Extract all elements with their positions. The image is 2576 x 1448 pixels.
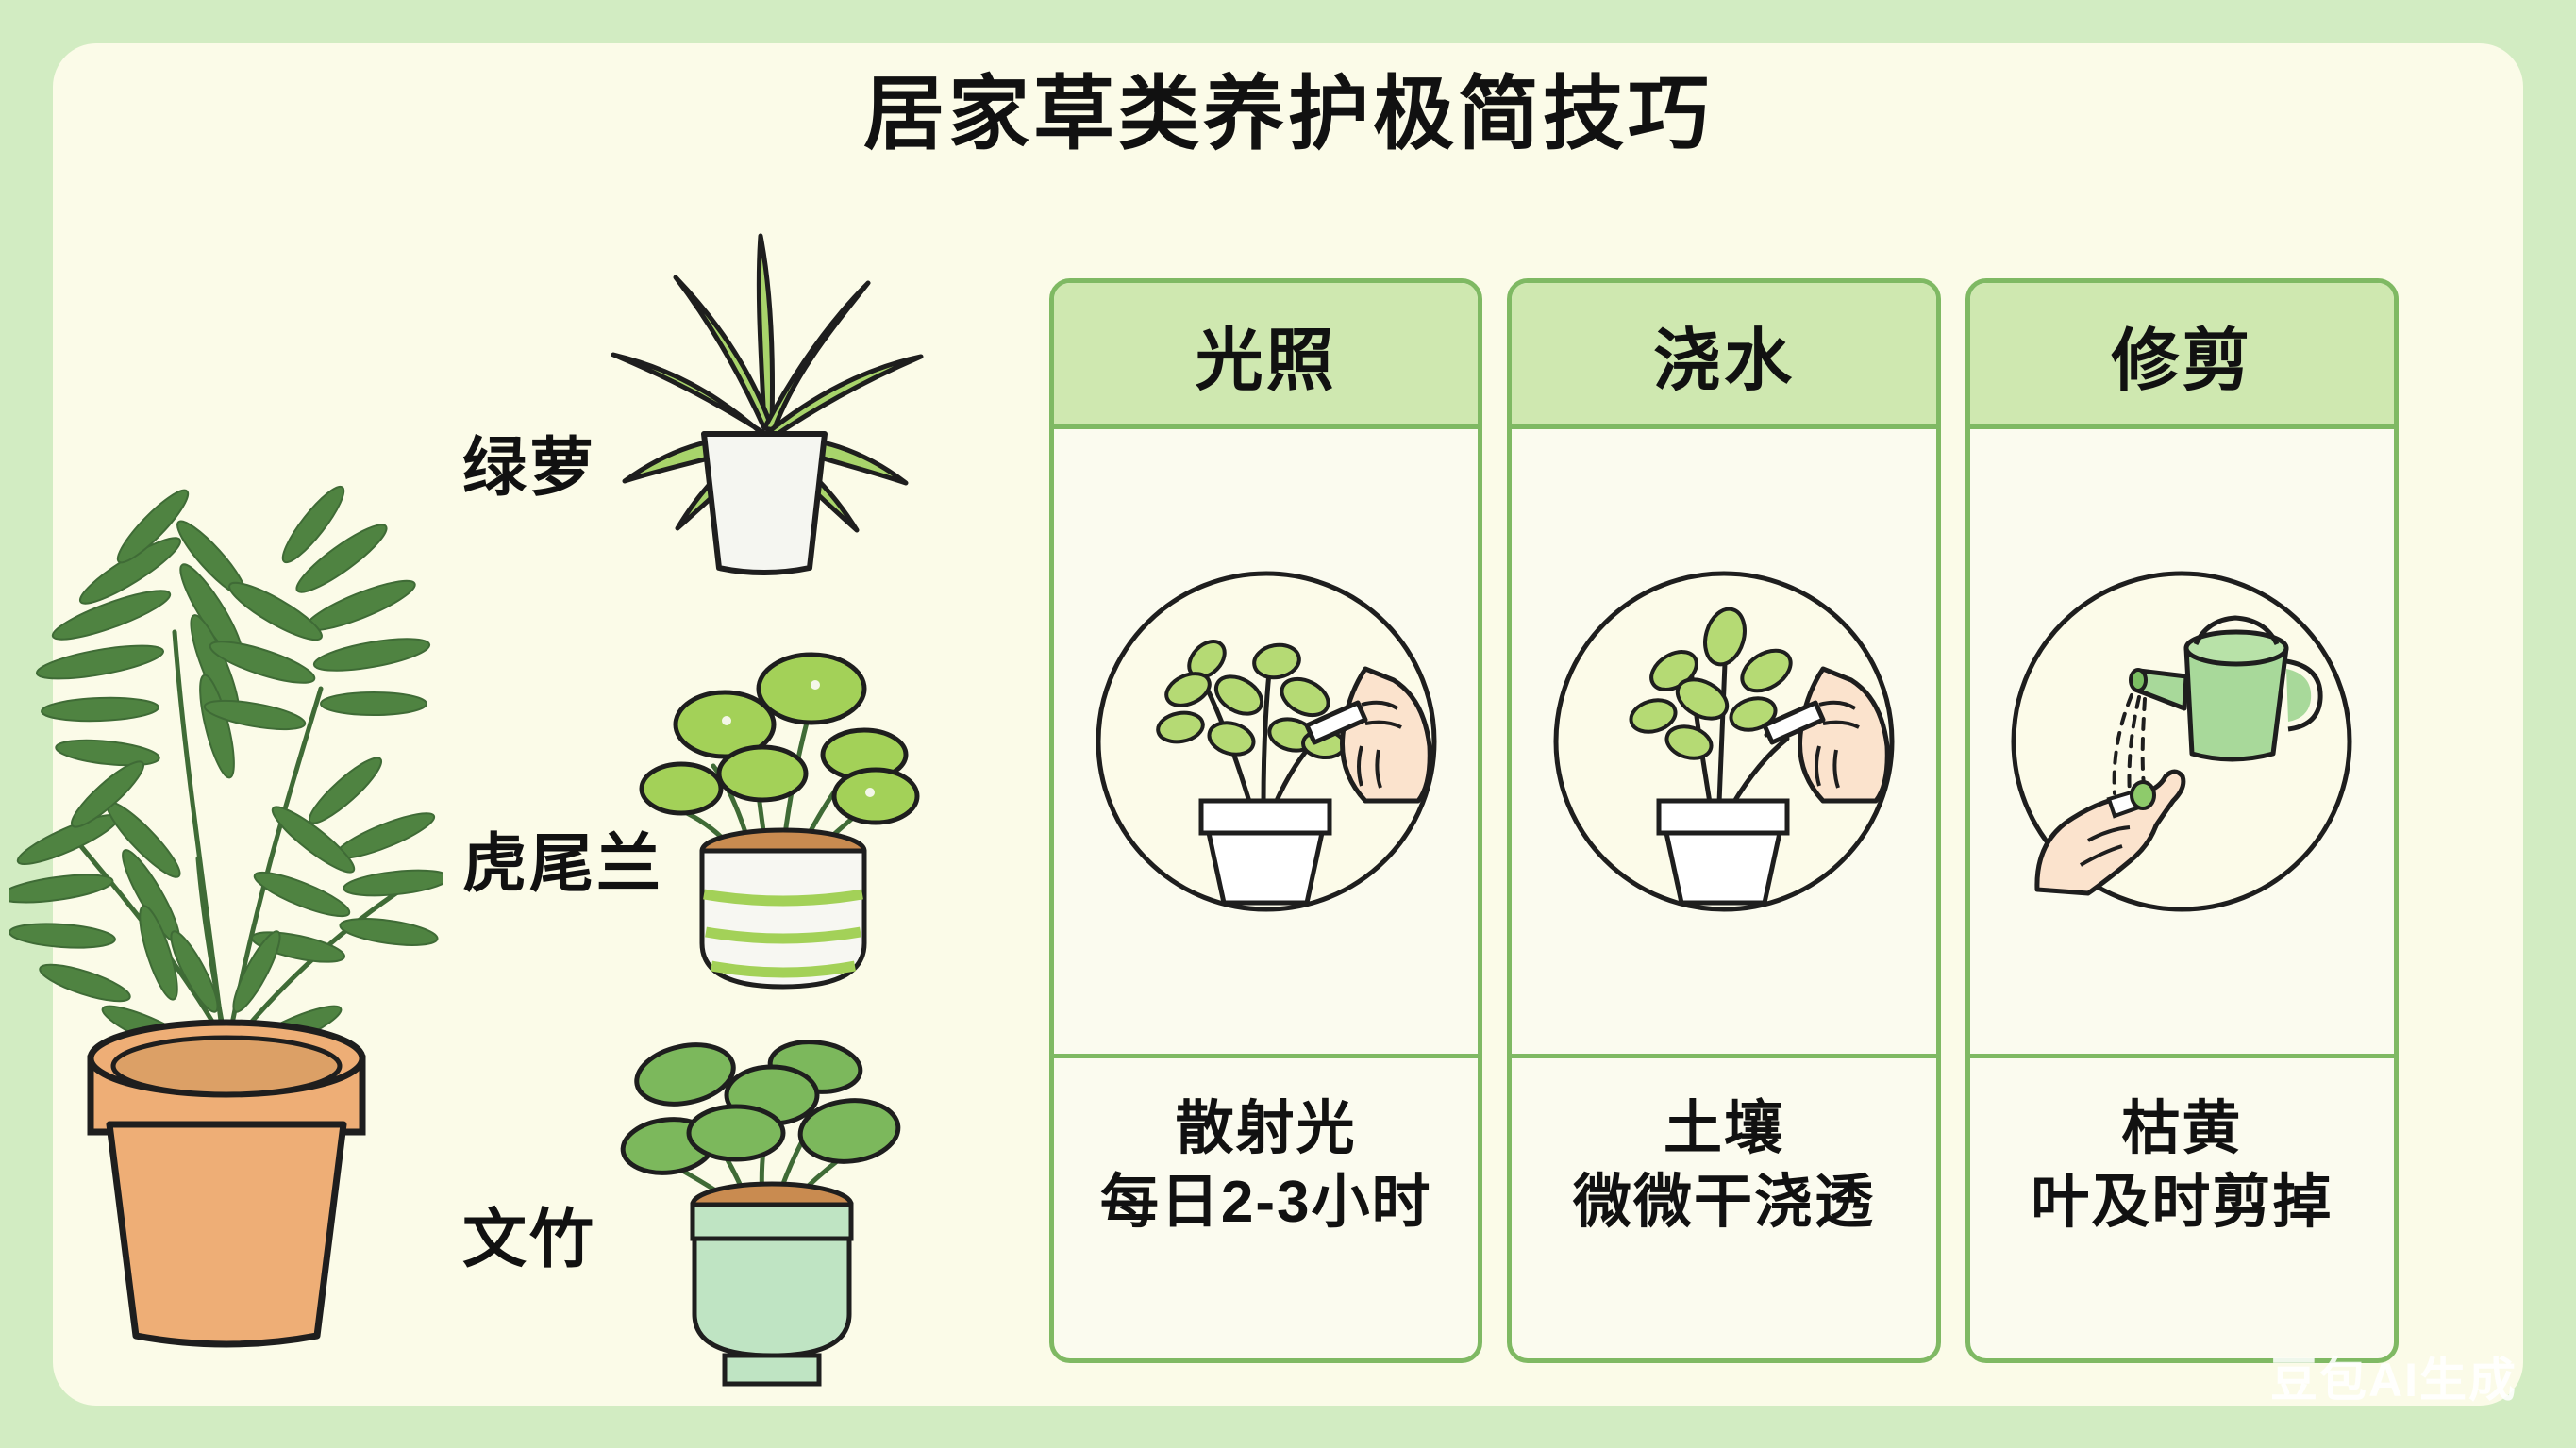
card-light[interactable]: 光照 <box>1049 278 1482 1363</box>
card-prune-body: 枯黄 叶及时剪掉 <box>1970 1058 2394 1358</box>
striped-pot-plant-illustration <box>623 632 944 1000</box>
card-light-body: 散射光 每日2-3小时 <box>1054 1058 1478 1358</box>
card-water-line-1: 土壤 <box>1664 1092 1784 1166</box>
white-pot <box>1201 801 1330 903</box>
card-light-header: 光照 <box>1054 283 1478 429</box>
card-water-header: 浇水 <box>1512 283 1935 429</box>
card-prune-line-1: 枯黄 <box>2121 1092 2242 1166</box>
striped-pot <box>702 830 864 987</box>
card-light-icon-area <box>1054 429 1478 1058</box>
card-prune[interactable]: 修剪 <box>1965 278 2399 1363</box>
mint-pot-plant-illustration <box>613 1033 934 1401</box>
hero-palm-illustration <box>9 311 443 1358</box>
hero-pot <box>91 1023 362 1344</box>
card-light-line-2: 每日2-3小时 <box>1100 1166 1432 1240</box>
card-water-body: 土壤 微微干浇透 <box>1512 1058 1935 1358</box>
plant-label-0: 绿萝 <box>462 415 596 508</box>
potted-plant-with-hand-tool-icon <box>1082 558 1450 925</box>
card-water[interactable]: 浇水 <box>1507 278 1940 1363</box>
card-prune-line-2: 叶及时剪掉 <box>2031 1166 2333 1240</box>
card-light-line-1: 散射光 <box>1176 1092 1357 1166</box>
watermark: 豆包AI生成 <box>2270 1342 2517 1410</box>
card-prune-header: 修剪 <box>1970 283 2394 429</box>
white-pot <box>704 434 825 573</box>
card-light-title: 光照 <box>1196 305 1337 404</box>
care-cards: 光照 <box>1049 278 2399 1363</box>
spider-plant-illustration <box>585 198 944 575</box>
watering-can-with-hand-icon <box>1998 558 2366 925</box>
card-prune-title: 修剪 <box>2111 305 2252 404</box>
mint-pot <box>693 1184 851 1384</box>
plant-label-2: 文竹 <box>462 1187 596 1280</box>
white-pot <box>1659 801 1787 903</box>
card-water-title: 浇水 <box>1653 305 1795 404</box>
card-water-icon-area <box>1512 429 1935 1058</box>
card-prune-icon-area <box>1970 429 2394 1058</box>
card-water-line-2: 微微干浇透 <box>1573 1166 1875 1240</box>
potted-plant-with-hand-tool-icon <box>1540 558 1908 925</box>
infographic-stage: 居家草类养护极简技巧 <box>0 0 2576 1448</box>
page-title: 居家草类养护极简技巧 <box>0 74 2576 155</box>
